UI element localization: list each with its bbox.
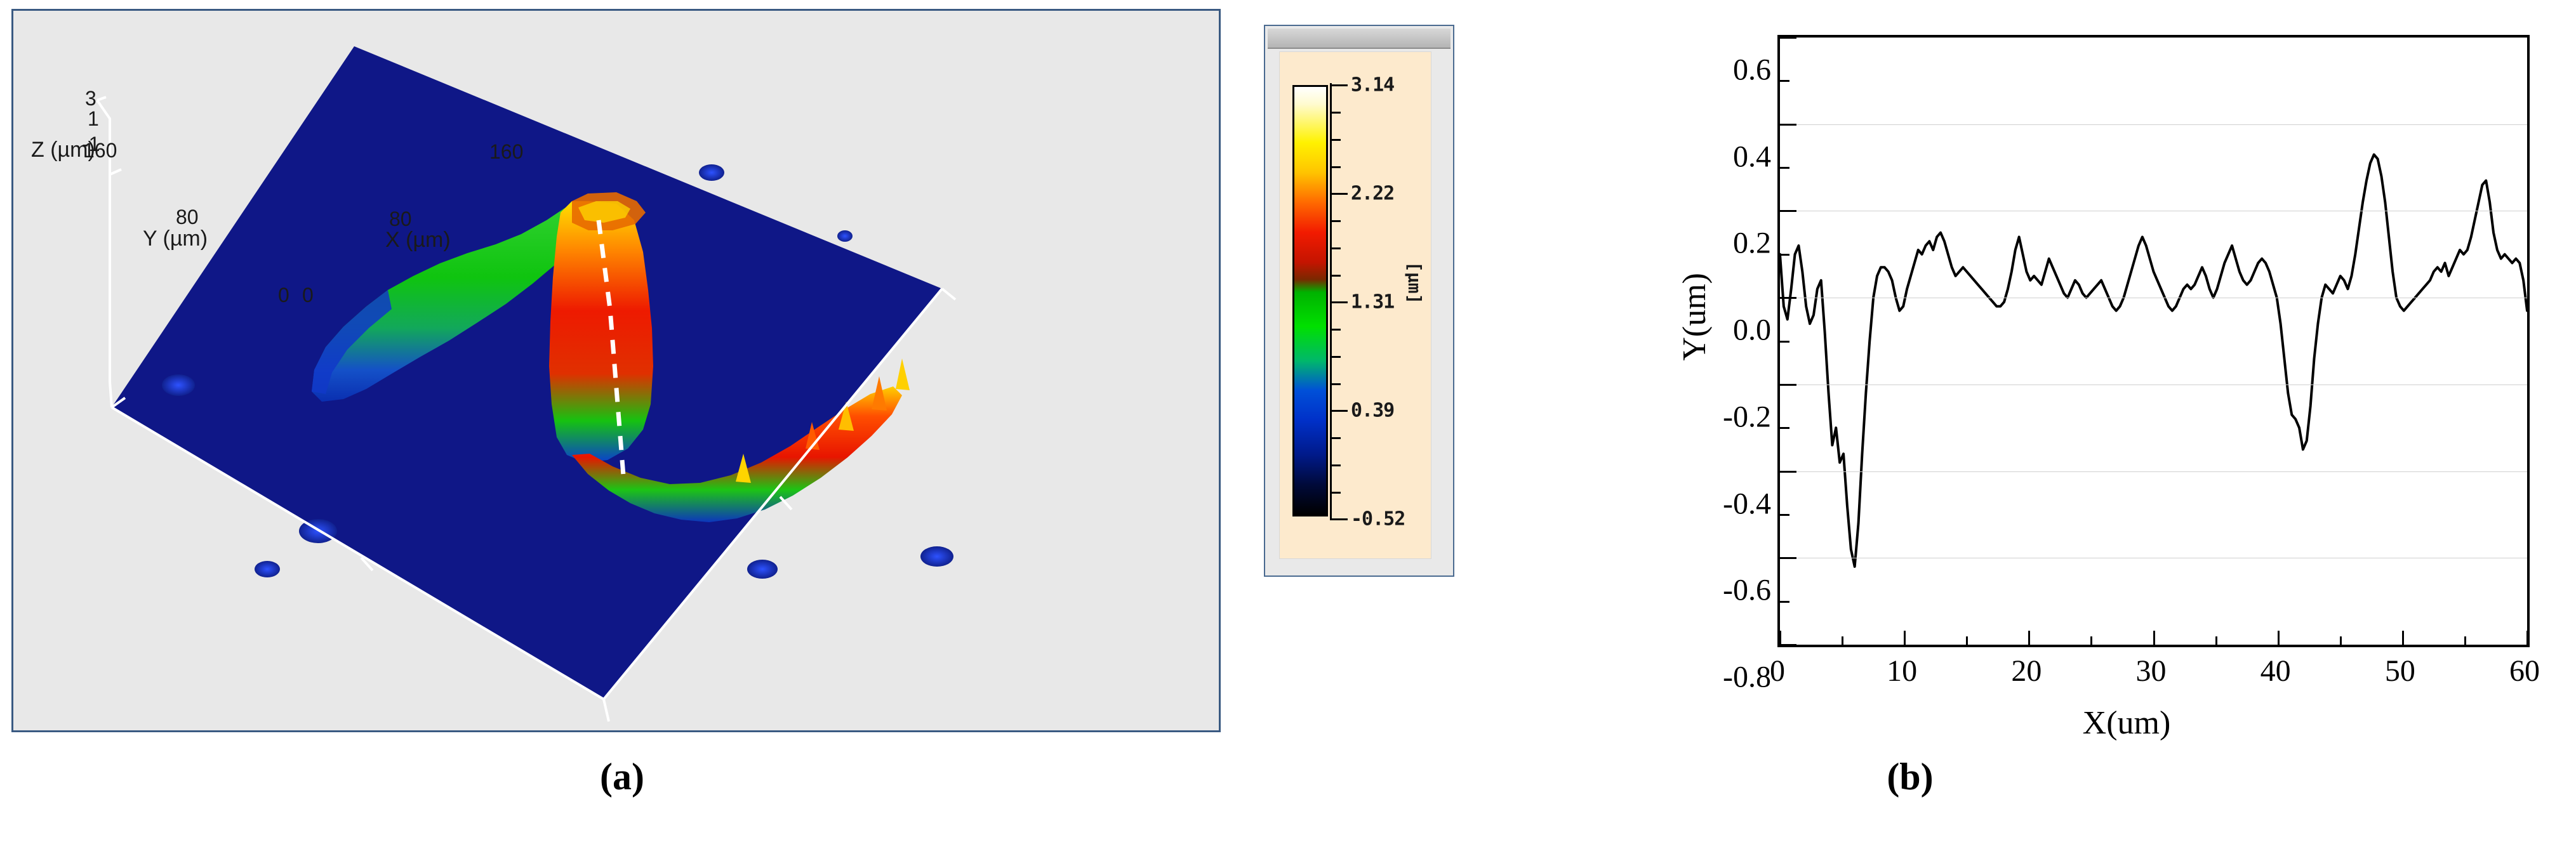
y-axis-tick-4	[1780, 297, 1796, 299]
y-axis-minor-tick-1	[1780, 514, 1789, 516]
x-axis-tick-5	[2402, 631, 2404, 645]
caption-panel-a: (a)	[0, 755, 1244, 799]
gridline-y-2	[1780, 471, 2527, 472]
surface-render-stage	[13, 11, 1223, 734]
y-tick-160: 160	[83, 139, 117, 162]
y-tick-label-2: -0.4	[1723, 486, 1771, 521]
y-tick-label-1: -0.6	[1723, 573, 1771, 608]
z-tick-1: 1	[88, 107, 99, 131]
gridline-y-7	[1780, 37, 2527, 38]
x-axis-tick-1	[1904, 631, 1906, 645]
y-axis-minor-tick-4	[1780, 254, 1789, 256]
x-axis-tick-2	[2028, 631, 2030, 645]
gridline-y-5	[1780, 211, 2527, 211]
axis-label-x: X (µm)	[385, 228, 451, 253]
y-tick-label-3: -0.2	[1723, 399, 1771, 434]
gridline-y-4	[1780, 298, 2527, 298]
gridline-y-3	[1780, 385, 2527, 385]
x-axis-minor-tick-4	[2340, 636, 2342, 645]
y-tick-label-7: 0.6	[1733, 53, 1771, 88]
x-tick-160: 160	[489, 140, 523, 164]
x-axis-minor-tick-3	[2215, 636, 2217, 645]
y-axis-tick-6	[1780, 124, 1796, 126]
y-axis-tick-7	[1780, 37, 1796, 39]
y-axis-tick-3	[1780, 384, 1796, 386]
caption-panel-b: (b)	[1244, 755, 2576, 799]
axis-label-x-profile: X(um)	[1777, 704, 2476, 742]
y-axis-minor-tick-6	[1780, 80, 1789, 82]
y-tick-label-5: 0.2	[1733, 226, 1771, 261]
y-axis-minor-tick-5	[1780, 167, 1789, 169]
x-tick-label-4: 40	[2261, 654, 2291, 688]
x-axis-minor-tick-2	[2090, 636, 2092, 645]
x-axis-tick-0	[1779, 631, 1781, 645]
y-tick-0: 0	[278, 284, 289, 307]
y-axis-tick-0	[1780, 644, 1796, 646]
x-tick-label-2: 20	[2011, 654, 2042, 688]
y-axis-minor-tick-2	[1780, 427, 1789, 429]
y-tick-80: 80	[176, 206, 199, 229]
substrate-shade	[112, 46, 942, 699]
y-axis-tick-1	[1780, 557, 1796, 559]
profile-line-svg	[1780, 37, 2527, 645]
x-tick-label-3: 30	[2136, 654, 2167, 688]
surface-svg	[13, 11, 1223, 734]
x-tick-label-0: 0	[1770, 654, 1785, 688]
x-axis-tick-3	[2153, 631, 2155, 645]
x-tick-label-6: 60	[2509, 654, 2540, 688]
topography-viewport: Z (µm) 3 1 -1 160 80 Y (µm) 0 0 80 X (µm…	[11, 9, 1221, 732]
profile-series-0	[1780, 155, 2527, 567]
y-axis-tick-5	[1780, 210, 1796, 212]
y-axis-minor-tick-0	[1780, 601, 1789, 603]
x-tick-label-5: 50	[2385, 654, 2415, 688]
x-tick-0: 0	[302, 284, 314, 307]
x-axis-minor-tick-1	[1966, 636, 1968, 645]
profile-plot-frame	[1777, 35, 2530, 647]
y-tick-label-0: -0.8	[1723, 660, 1771, 695]
crater-wall-left	[549, 201, 653, 463]
y-tick-label-4: 0.0	[1733, 313, 1771, 348]
x-tick-label-1: 10	[1887, 654, 1917, 688]
x-axis-minor-tick-0	[1842, 636, 1843, 645]
x-axis-tick-4	[2278, 631, 2280, 645]
y-tick-labels: -0.8-0.6-0.4-0.20.00.20.40.6	[1689, 35, 1771, 647]
axis-label-y: Y (µm)	[143, 227, 208, 251]
gridline-y-6	[1780, 124, 2527, 125]
x-axis-tick-6	[2526, 631, 2528, 645]
gridline-y-1	[1780, 558, 2527, 558]
panel-a-3d-topography: Z (µm) 3 1 -1 160 80 Y (µm) 0 0 80 X (µm…	[0, 0, 1244, 749]
y-axis-tick-2	[1780, 471, 1796, 473]
y-tick-label-6: 0.4	[1733, 139, 1771, 174]
y-axis-minor-tick-3	[1780, 341, 1789, 343]
x-axis-minor-tick-5	[2464, 636, 2466, 645]
x-tick-labels: 0102030405060	[1777, 654, 2530, 692]
